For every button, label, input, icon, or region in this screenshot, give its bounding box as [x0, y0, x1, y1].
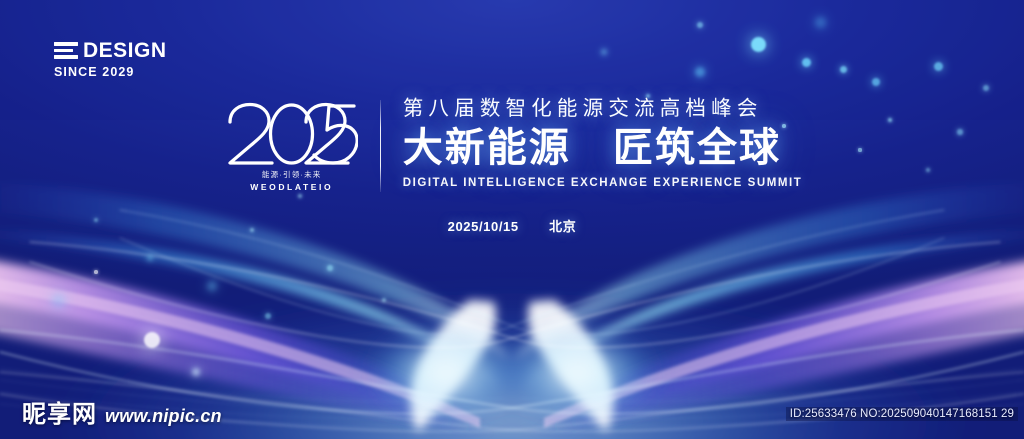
headline-left: 大新能源 [403, 126, 571, 170]
banner-content: 能源·引领·未来 WEODLATEIO 第八届数智化能源交流高档峰会 大新能源 … [0, 98, 1024, 235]
bokeh-dot [840, 66, 847, 73]
bokeh-dot [327, 265, 332, 270]
title-text-block: 第八届数智化能源交流高档峰会 大新能源 匠筑全球 DIGITAL INTELLI… [403, 98, 803, 189]
logo-tagline: SINCE 2029 [54, 65, 167, 79]
bokeh-dot [983, 85, 989, 91]
bokeh-dot [697, 22, 703, 28]
bokeh-dot [751, 37, 766, 52]
bokeh-dot [601, 49, 607, 55]
logo-wordmark: DESIGN [83, 40, 167, 61]
bokeh-dot [815, 17, 826, 28]
event-headline: 大新能源 匠筑全球 [403, 126, 781, 171]
year-tagline-latin: WEODLATEIO [250, 182, 333, 192]
event-subtitle-english: DIGITAL INTELLIGENCE EXCHANGE EXPERIENCE… [403, 177, 803, 189]
bokeh-dot [144, 332, 160, 348]
bokeh-dot [207, 281, 217, 291]
brand-logo: DESIGN SINCE 2029 [54, 40, 167, 79]
bokeh-dot [265, 313, 271, 319]
vertical-divider [380, 100, 381, 192]
year-numerals [226, 102, 358, 168]
year-tagline-cn: 能源·引领·未来 [262, 169, 322, 180]
bokeh-dot [382, 298, 386, 302]
bokeh-dot [147, 255, 153, 261]
bokeh-dot [94, 270, 98, 274]
event-banner: DESIGN SINCE 2029 [0, 0, 1024, 439]
watermark-asset-id: ID:25633476 NO:202509040147168151 29 [786, 407, 1018, 421]
bokeh-dot [934, 62, 943, 71]
bokeh-dot [52, 294, 65, 307]
event-date: 2025/10/15 [448, 219, 519, 234]
year-lockup: 能源·引领·未来 WEODLATEIO [222, 98, 362, 192]
watermark-site-name: 昵享网 [22, 394, 97, 429]
event-meta: 2025/10/15 北京 [448, 216, 577, 235]
bokeh-dot [802, 58, 811, 67]
title-row: 能源·引领·未来 WEODLATEIO 第八届数智化能源交流高档峰会 大新能源 … [222, 98, 803, 192]
bokeh-dot [872, 78, 880, 86]
event-kicker: 第八届数智化能源交流高档峰会 [403, 98, 763, 121]
bokeh-dot [695, 67, 705, 77]
three-bar-e-mark-icon [54, 42, 78, 59]
watermark-site-url: www.nipic.cn [105, 406, 222, 427]
watermark-site: 昵享网 www.nipic.cn [22, 394, 222, 429]
event-city: 北京 [549, 219, 576, 234]
bokeh-dot [192, 368, 200, 376]
headline-right: 匠筑全球 [613, 126, 781, 170]
